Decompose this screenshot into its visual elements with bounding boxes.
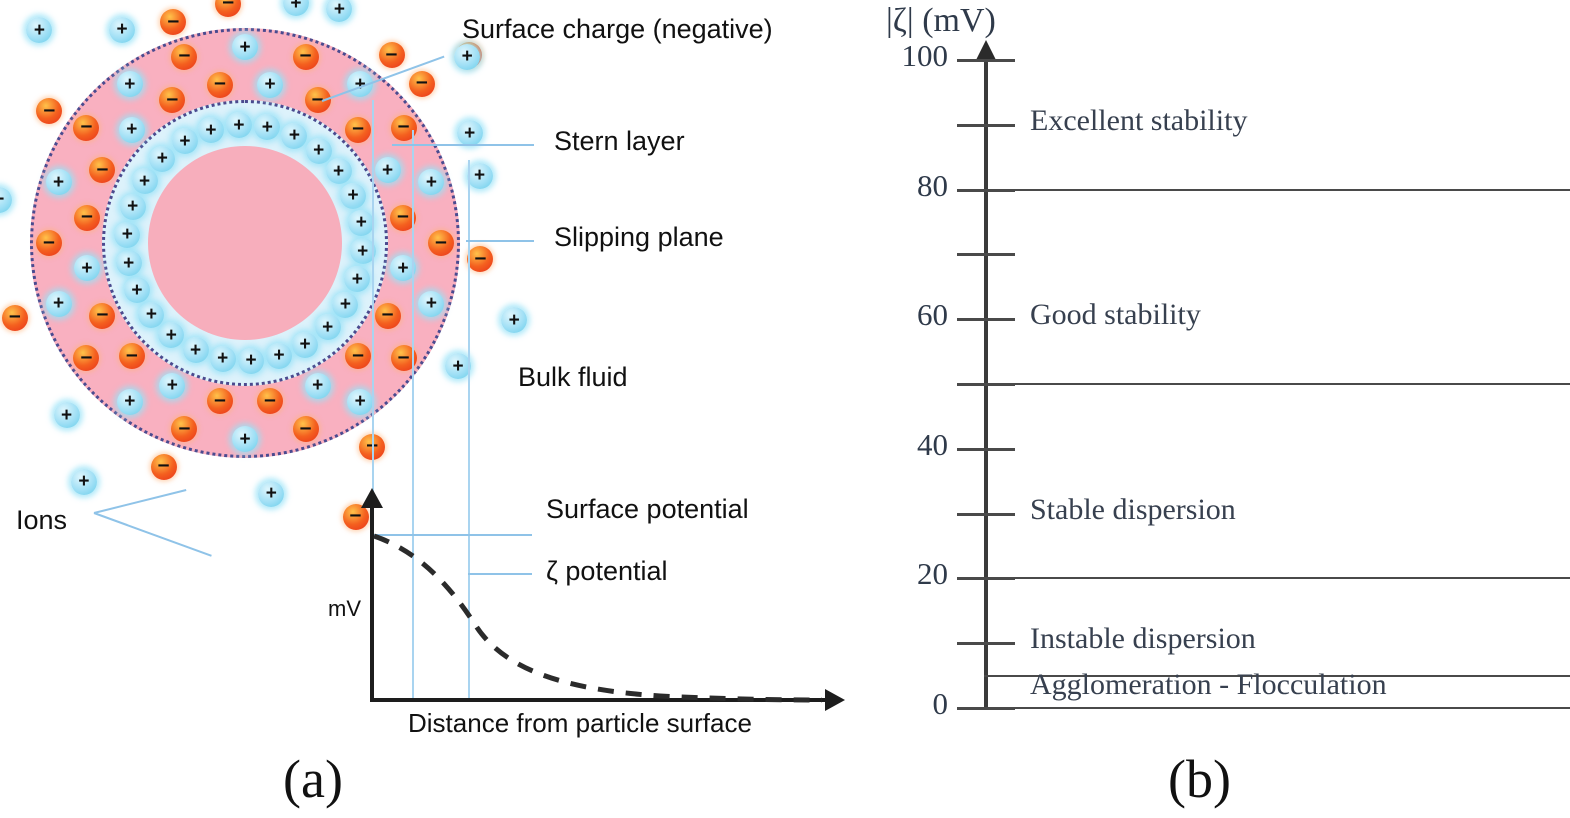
label-slipping-plane: Slipping plane bbox=[554, 222, 724, 253]
panel-a-particle-diagram: +++++++++++++++++++++++++++––+––+––+––+–… bbox=[0, 0, 880, 818]
chart-band-label: Excellent stability bbox=[1030, 104, 1247, 138]
ion-symbol: – bbox=[158, 454, 170, 475]
positive-ion: + bbox=[418, 291, 444, 317]
leader-ions bbox=[94, 512, 212, 557]
leader-ions-second bbox=[94, 489, 187, 514]
ion-symbol: + bbox=[462, 47, 473, 66]
ion-symbol: + bbox=[53, 294, 64, 313]
negative-ion: – bbox=[74, 205, 100, 231]
leader-stern-layer bbox=[392, 144, 534, 146]
ion-symbol: + bbox=[205, 121, 216, 140]
ion-symbol: – bbox=[312, 88, 324, 109]
ion-symbol: + bbox=[340, 295, 351, 314]
positive-ion: + bbox=[210, 346, 236, 372]
negative-ion: – bbox=[375, 303, 401, 329]
negative-ion: – bbox=[89, 303, 115, 329]
positive-ion: + bbox=[232, 426, 258, 452]
ion-symbol: – bbox=[397, 205, 409, 226]
chart-band-divider bbox=[984, 577, 1570, 579]
positive-ion: + bbox=[149, 146, 175, 172]
ion-symbol: + bbox=[34, 21, 45, 40]
ion-symbol: – bbox=[214, 72, 226, 93]
positive-ion: + bbox=[326, 0, 352, 22]
label-ions: Ions bbox=[16, 505, 67, 536]
ion-symbol: + bbox=[262, 118, 273, 137]
ion-symbol: – bbox=[81, 205, 93, 226]
ion-symbol: + bbox=[124, 75, 135, 94]
ion-symbol: + bbox=[157, 149, 168, 168]
chart-tick-label: 40 bbox=[886, 427, 948, 463]
positive-ion: + bbox=[71, 469, 97, 495]
ion-symbol: – bbox=[167, 88, 179, 109]
positive-ion: + bbox=[120, 194, 146, 220]
chart-tick bbox=[957, 253, 1015, 256]
ion-symbol: – bbox=[97, 158, 109, 179]
negative-ion: – bbox=[409, 71, 435, 97]
ion-symbol: + bbox=[81, 259, 92, 278]
ion-symbol: + bbox=[245, 351, 256, 370]
negative-ion: – bbox=[160, 9, 186, 35]
positive-ion: + bbox=[347, 389, 373, 415]
ion-symbol: – bbox=[43, 231, 55, 252]
ion-symbol: + bbox=[146, 305, 157, 324]
ion-symbol: – bbox=[475, 247, 487, 268]
ion-symbol: – bbox=[97, 303, 109, 324]
ion-symbol: + bbox=[233, 116, 244, 135]
ion-symbol: + bbox=[322, 318, 333, 337]
ion-symbol: + bbox=[312, 376, 323, 395]
negative-ion: – bbox=[257, 388, 283, 414]
ion-symbol: + bbox=[356, 213, 367, 232]
panel-b-letter: (b) bbox=[1168, 748, 1231, 810]
positive-ion: + bbox=[119, 117, 145, 143]
chart-tick bbox=[957, 318, 1015, 321]
chart-band-label: Stable dispersion bbox=[1030, 493, 1236, 527]
positive-ion: + bbox=[117, 389, 143, 415]
ion-symbol: – bbox=[44, 99, 56, 120]
label-bulk-fluid: Bulk fluid bbox=[518, 362, 628, 393]
positive-ion: + bbox=[0, 187, 12, 213]
ion-symbol: + bbox=[313, 141, 324, 160]
negative-ion: – bbox=[215, 0, 241, 17]
positive-ion: + bbox=[292, 332, 318, 358]
ion-symbol: – bbox=[264, 389, 276, 410]
ion-symbol: + bbox=[0, 190, 4, 209]
positive-ion: + bbox=[457, 120, 483, 146]
positive-ion: + bbox=[326, 158, 352, 184]
ion-symbol: + bbox=[300, 335, 311, 354]
chart-band-divider bbox=[984, 707, 1570, 709]
ion-symbol: + bbox=[166, 326, 177, 345]
chart-tick bbox=[957, 642, 1015, 645]
ion-symbol: – bbox=[352, 344, 364, 365]
chart-tick-label: 20 bbox=[886, 556, 948, 592]
negative-ion: – bbox=[467, 246, 493, 272]
positive-ion: + bbox=[116, 250, 142, 276]
particle-core-disc bbox=[148, 146, 342, 340]
ion-symbol: + bbox=[239, 430, 250, 449]
ion-symbol: + bbox=[266, 484, 277, 503]
ion-symbol: + bbox=[273, 346, 284, 365]
ion-symbol: + bbox=[382, 161, 393, 180]
chart-band-label: Good stability bbox=[1030, 298, 1201, 332]
inset-x-axis-label: Distance from particle surface bbox=[408, 708, 752, 739]
positive-ion: + bbox=[232, 34, 258, 60]
positive-ion: + bbox=[238, 348, 264, 374]
ion-symbol: – bbox=[382, 303, 394, 324]
positive-ion: + bbox=[226, 112, 252, 138]
negative-ion: – bbox=[293, 44, 319, 70]
negative-ion: – bbox=[171, 44, 197, 70]
negative-ion: – bbox=[2, 305, 28, 331]
positive-ion: + bbox=[258, 481, 284, 507]
positive-ion: + bbox=[315, 314, 341, 340]
chart-tick bbox=[957, 124, 1015, 127]
chart-tick-label: 0 bbox=[886, 686, 948, 722]
ion-symbol: – bbox=[179, 44, 191, 65]
ion-symbol: – bbox=[435, 231, 447, 252]
negative-ion: – bbox=[345, 117, 371, 143]
positive-ion: + bbox=[198, 117, 224, 143]
label-surface-charge: Surface charge (negative) bbox=[462, 14, 773, 45]
ion-symbol: + bbox=[78, 472, 89, 491]
chart-tick bbox=[957, 59, 1015, 62]
positive-ion: + bbox=[159, 373, 185, 399]
ion-symbol: + bbox=[290, 0, 301, 13]
ion-symbol: – bbox=[81, 346, 93, 367]
positive-ion: + bbox=[132, 168, 158, 194]
ion-symbol: + bbox=[122, 225, 133, 244]
chart-tick-label: 80 bbox=[886, 168, 948, 204]
negative-ion: – bbox=[36, 98, 62, 124]
ion-symbol: + bbox=[474, 166, 485, 185]
ion-symbol: – bbox=[352, 117, 364, 138]
ion-symbol: + bbox=[126, 120, 137, 139]
ion-symbol: + bbox=[179, 132, 190, 151]
positive-ion: + bbox=[183, 337, 209, 363]
particle-illustration: +++++++++++++++++++++++++++––+––+––+––+–… bbox=[10, 8, 480, 478]
ion-symbol: + bbox=[127, 197, 138, 216]
chart-tick bbox=[957, 448, 1015, 451]
ion-symbol: + bbox=[264, 75, 275, 94]
chart-band-label: Agglomeration - Flocculation bbox=[1030, 668, 1387, 702]
ion-symbol: + bbox=[53, 173, 64, 192]
ion-symbol: + bbox=[190, 341, 201, 360]
ion-symbol: – bbox=[179, 417, 191, 438]
positive-ion: + bbox=[340, 183, 366, 209]
inset-y-axis-label: mV bbox=[328, 596, 361, 622]
negative-ion: – bbox=[207, 388, 233, 414]
ion-symbol: – bbox=[9, 305, 21, 326]
ion-symbol: + bbox=[116, 20, 127, 39]
ion-symbol: – bbox=[222, 0, 234, 12]
chart-axis-title: |ζ| (mV) bbox=[886, 2, 996, 40]
positive-ion: + bbox=[54, 402, 80, 428]
ion-symbol: – bbox=[300, 44, 312, 65]
negative-ion: – bbox=[379, 42, 405, 68]
positive-ion: + bbox=[501, 307, 527, 333]
ion-symbol: + bbox=[123, 254, 134, 273]
positive-ion: + bbox=[74, 255, 100, 281]
negative-ion: – bbox=[207, 72, 233, 98]
chart-tick bbox=[957, 513, 1015, 516]
ion-symbol: + bbox=[397, 259, 408, 278]
positive-ion: + bbox=[26, 17, 52, 43]
ion-symbol: + bbox=[352, 270, 363, 289]
panel-b-stability-chart: |ζ| (mV) 020406080100 Agglomeration - Fl… bbox=[880, 0, 1570, 818]
ion-symbol: + bbox=[61, 406, 72, 425]
label-stern-layer: Stern layer bbox=[554, 126, 685, 157]
leader-slipping-plane bbox=[466, 240, 534, 242]
ion-symbol: – bbox=[398, 115, 410, 136]
negative-ion: – bbox=[151, 454, 177, 480]
ion-symbol: – bbox=[214, 389, 226, 410]
negative-ion: – bbox=[428, 230, 454, 256]
positive-ion: + bbox=[109, 17, 135, 43]
ion-symbol: + bbox=[131, 281, 142, 300]
ion-symbol: – bbox=[81, 115, 93, 136]
ion-symbol: – bbox=[167, 10, 179, 31]
positive-ion: + bbox=[46, 169, 72, 195]
ion-symbol: – bbox=[126, 344, 138, 365]
chart-band-divider bbox=[984, 189, 1570, 191]
ion-symbol: + bbox=[333, 162, 344, 181]
positive-ion: + bbox=[348, 210, 374, 236]
ion-symbol: + bbox=[357, 242, 368, 261]
ion-symbol: – bbox=[416, 71, 428, 92]
ion-symbol: + bbox=[334, 0, 345, 19]
ion-symbol: – bbox=[398, 346, 410, 367]
potential-decay-plot: mV Distance from particle surface bbox=[330, 500, 850, 730]
ion-symbol: + bbox=[452, 357, 463, 376]
ion-symbol: – bbox=[300, 417, 312, 438]
positive-ion: + bbox=[306, 138, 332, 164]
figure-root: +++++++++++++++++++++++++++––+––+––+––+–… bbox=[0, 0, 1570, 818]
ion-symbol: + bbox=[355, 392, 366, 411]
positive-ion: + bbox=[257, 72, 283, 98]
ion-symbol: + bbox=[217, 349, 228, 368]
chart-band-divider bbox=[984, 383, 1570, 385]
positive-ion: + bbox=[46, 291, 72, 317]
ion-symbol: – bbox=[386, 43, 398, 64]
chart-tick-label: 100 bbox=[886, 38, 948, 74]
potential-curve-svg bbox=[330, 500, 850, 730]
ion-symbol: + bbox=[464, 124, 475, 143]
ion-symbol: + bbox=[426, 173, 437, 192]
positive-ion: + bbox=[375, 157, 401, 183]
ion-symbol: + bbox=[509, 311, 520, 330]
ion-symbol: + bbox=[289, 126, 300, 145]
ion-symbol: + bbox=[239, 38, 250, 57]
ion-symbol: + bbox=[124, 392, 135, 411]
negative-ion: – bbox=[305, 87, 331, 113]
panel-a-letter: (a) bbox=[283, 748, 343, 810]
positive-ion: + bbox=[283, 0, 309, 16]
ion-symbol: + bbox=[347, 186, 358, 205]
zeta-stability-chart: |ζ| (mV) 020406080100 Agglomeration - Fl… bbox=[880, 0, 1570, 760]
positive-ion: + bbox=[266, 343, 292, 369]
positive-ion: + bbox=[114, 222, 140, 248]
ion-symbol: + bbox=[167, 376, 178, 395]
positive-ion: + bbox=[454, 44, 480, 70]
positive-ion: + bbox=[305, 373, 331, 399]
chart-tick-label: 60 bbox=[886, 297, 948, 333]
negative-ion: – bbox=[36, 230, 62, 256]
positive-ion: + bbox=[467, 163, 493, 189]
ion-symbol: + bbox=[139, 172, 150, 191]
negative-ion: – bbox=[119, 343, 145, 369]
chart-band-label: Instable dispersion bbox=[1030, 622, 1256, 656]
ion-symbol: + bbox=[426, 294, 437, 313]
negative-ion: – bbox=[293, 416, 319, 442]
